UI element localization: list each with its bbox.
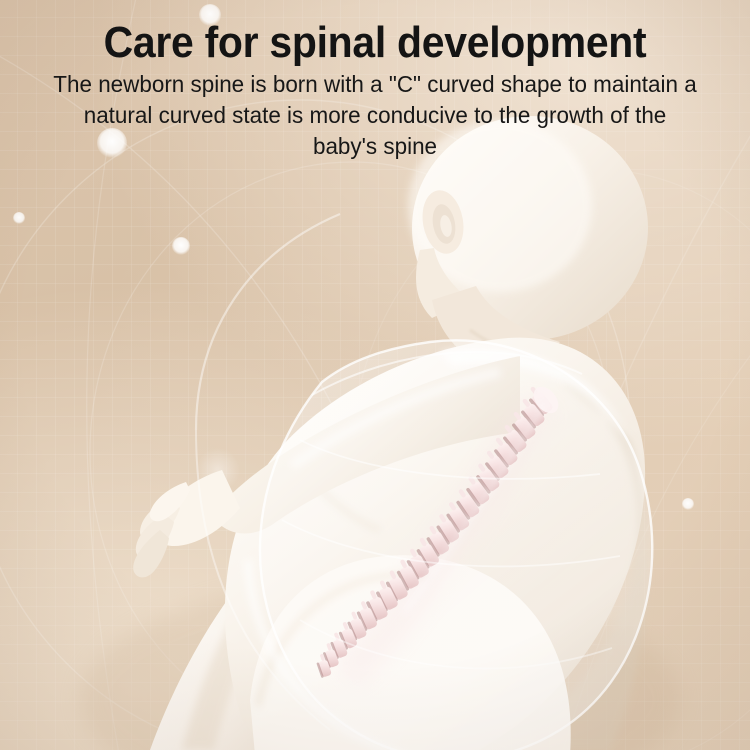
page-title: Care for spinal development (26, 0, 724, 67)
subtitle-line-1: The newborn spine is born with a "C" cur… (38, 70, 712, 98)
subtitle-line-3: baby's spine (38, 132, 712, 160)
poster-canvas: Care for spinal development The newborn … (0, 0, 750, 750)
overlay-sphere (260, 340, 652, 750)
subtitle-line-2: natural curved state is more conducive t… (38, 101, 712, 129)
baby-hand (133, 470, 240, 577)
headline-block: Care for spinal development The newborn … (0, 0, 750, 160)
